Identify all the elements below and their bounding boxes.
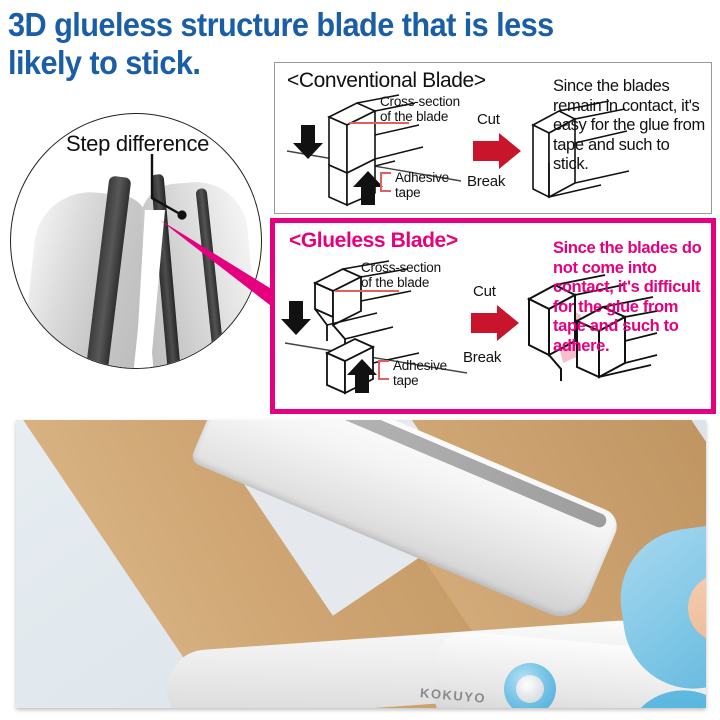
- cross-section-line2: of the blade: [380, 109, 448, 124]
- adhesive-tape-bracket-conventional: [377, 171, 395, 195]
- panel-conventional-blade: <Conventional Blade> Cross-secti: [274, 62, 712, 214]
- conventional-cross-section-label: Cross-section of the blade: [380, 95, 460, 124]
- red-arrow-icon-glueless: [469, 303, 521, 343]
- red-arrow-icon-conventional: [471, 131, 523, 171]
- infographic-root: 3D glueless structure blade that is less…: [0, 0, 720, 720]
- cross-section-line2: of the blade: [361, 275, 429, 290]
- glueless-description: Since the blades do not come into contac…: [553, 239, 703, 356]
- adhesive-tape-bracket-glueless: [375, 359, 393, 383]
- glueless-break-label: Break: [463, 349, 501, 366]
- conventional-cut-label: Cut: [477, 111, 500, 128]
- adhesive-tape-line1: Adhesive: [395, 170, 449, 185]
- adhesive-tape-line2: tape: [393, 373, 418, 388]
- product-photo: KOKUYO: [16, 420, 706, 708]
- cross-section-line1: Cross-section: [361, 260, 441, 275]
- cross-section-line1: Cross-section: [380, 94, 460, 109]
- panel-glueless-blade: <Glueless Blade>: [270, 218, 716, 414]
- conventional-description: Since the blades remain in contact, it's…: [553, 77, 708, 175]
- glueless-cross-section-label: Cross-section of the blade: [361, 261, 441, 290]
- conventional-break-label: Break: [467, 173, 505, 190]
- glueless-adhesive-tape-label: Adhesive tape: [393, 359, 447, 388]
- adhesive-tape-line2: tape: [395, 185, 420, 200]
- conventional-adhesive-tape-label: Adhesive tape: [395, 171, 449, 200]
- photo-pivot-screw: [516, 675, 544, 703]
- inset-blade-left: [18, 187, 151, 369]
- glueless-cut-label: Cut: [473, 283, 496, 300]
- adhesive-tape-line1: Adhesive: [393, 358, 447, 373]
- panel-glueless-title: <Glueless Blade>: [289, 229, 458, 253]
